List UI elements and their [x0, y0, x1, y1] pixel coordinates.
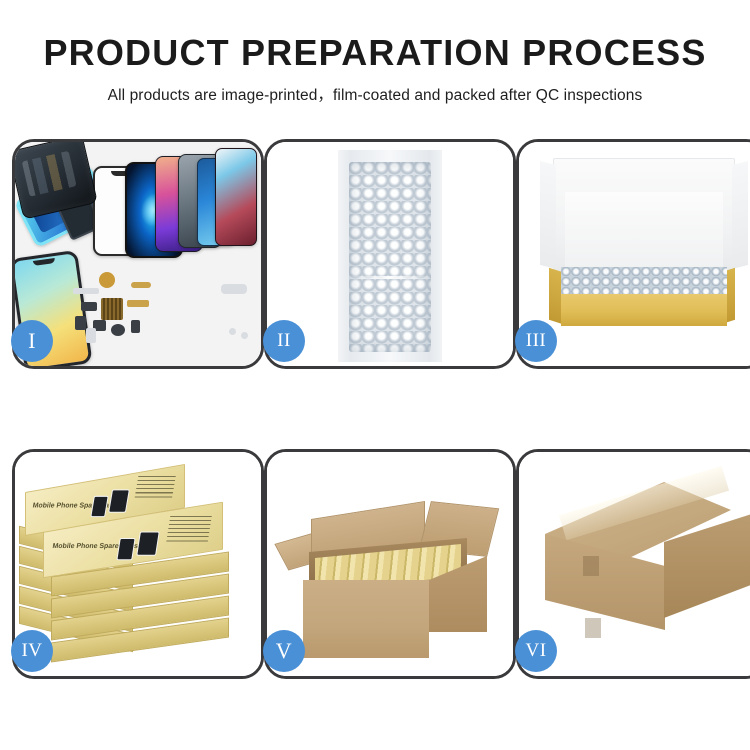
carton-handle-notch — [583, 556, 599, 576]
side-button-flex — [131, 282, 151, 288]
step-badge-6: VI — [515, 630, 557, 672]
ic-chip-array — [101, 298, 123, 320]
box-front-panel — [561, 294, 727, 326]
carton-handle-notch — [585, 618, 601, 638]
process-step-grid: I II III — [12, 139, 738, 679]
step-badge-1: I — [11, 320, 53, 362]
carton-front-panel — [303, 580, 429, 658]
stacked-boxes-scene: Mobile Phone Spare Parts Mobile Phone Sp… — [15, 452, 261, 676]
process-step-panel-2[interactable]: II — [264, 139, 516, 369]
connector-component — [81, 302, 97, 311]
step-badge-5: V — [263, 630, 305, 672]
box-screen-graphic — [108, 489, 130, 512]
flex-cable-component — [73, 288, 99, 294]
step-2-image — [267, 142, 513, 366]
speaker-component — [99, 272, 115, 288]
process-step-panel-4[interactable]: Mobile Phone Spare Parts Mobile Phone Sp… — [12, 449, 264, 679]
step-badge-2: II — [263, 320, 305, 362]
screw-component — [241, 332, 248, 339]
box-spec-lines — [166, 516, 212, 542]
step-badge-3: III — [515, 320, 557, 362]
step-1-image — [15, 142, 261, 366]
bubble-wrap-scene — [267, 142, 513, 366]
step-4-image: Mobile Phone Spare Parts Mobile Phone Sp… — [15, 452, 261, 676]
page-title: PRODUCT PREPARATION PROCESS — [0, 0, 750, 72]
camera-lens-component — [111, 324, 125, 336]
process-step-panel-5[interactable]: V — [264, 449, 516, 679]
box-screen-graphic — [90, 496, 108, 517]
process-step-panel-3[interactable]: III — [516, 139, 750, 369]
box-screen-graphic — [136, 531, 160, 555]
process-step-panel-6[interactable]: VI — [516, 449, 750, 679]
page-header: PRODUCT PREPARATION PROCESS All products… — [0, 0, 750, 128]
step-badge-4: IV — [11, 630, 53, 672]
red-gradient-phone — [215, 148, 257, 246]
bubble-wrap-texture — [349, 162, 431, 352]
box-screen-graphic — [116, 538, 135, 560]
bubble-wrap-seam — [350, 276, 430, 279]
camera-flex-component — [127, 300, 149, 307]
screw-component — [229, 328, 236, 335]
step-5-image — [267, 452, 513, 676]
page-subtitle: All products are image-printed，film-coat… — [0, 72, 750, 105]
process-step-panel-1[interactable]: I — [12, 139, 264, 369]
battery-connector — [86, 328, 96, 343]
vibrator-motor — [75, 316, 86, 330]
sim-tray-component — [131, 320, 140, 333]
phone-parts-scene — [15, 142, 261, 366]
bubble-wrapped-item-in-box — [561, 267, 727, 297]
foam-sheet — [565, 192, 723, 270]
bubble-wrap-bag — [338, 150, 442, 362]
screwdriver-tool — [221, 284, 247, 294]
open-carton-scene — [267, 452, 513, 676]
box-spec-lines — [134, 476, 176, 500]
